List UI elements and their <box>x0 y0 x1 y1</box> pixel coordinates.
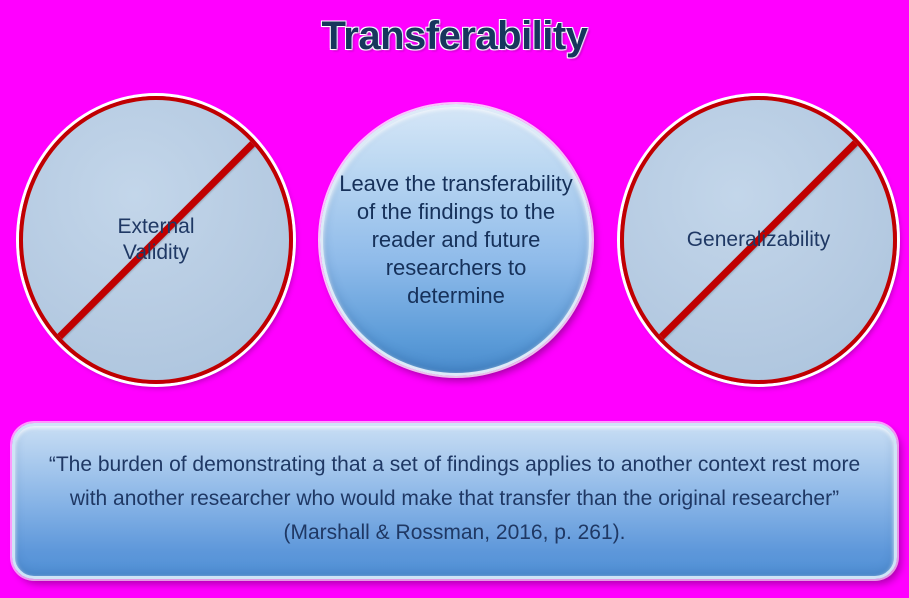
circle-center-statement[interactable]: Leave the transferability of the finding… <box>320 104 592 376</box>
concept-circles-row: External Validity Leave the transferabil… <box>0 0 909 400</box>
circle-external-validity-label: External Validity <box>101 214 210 267</box>
slide-canvas: Transferability External Validity Leave … <box>0 0 909 598</box>
circle-generalizability-label: Generalizability <box>671 227 847 253</box>
circle-external-validity-label-line2: Validity <box>123 241 189 264</box>
circle-external-validity[interactable]: External Validity <box>19 96 293 384</box>
circle-external-validity-label-line1: External <box>117 215 194 238</box>
quote-box[interactable]: “The burden of demonstrating that a set … <box>12 423 897 579</box>
quote-text: “The burden of demonstrating that a set … <box>37 448 872 550</box>
circle-generalizability[interactable]: Generalizability <box>620 96 897 384</box>
circle-center-statement-label: Leave the transferability of the finding… <box>323 170 589 311</box>
